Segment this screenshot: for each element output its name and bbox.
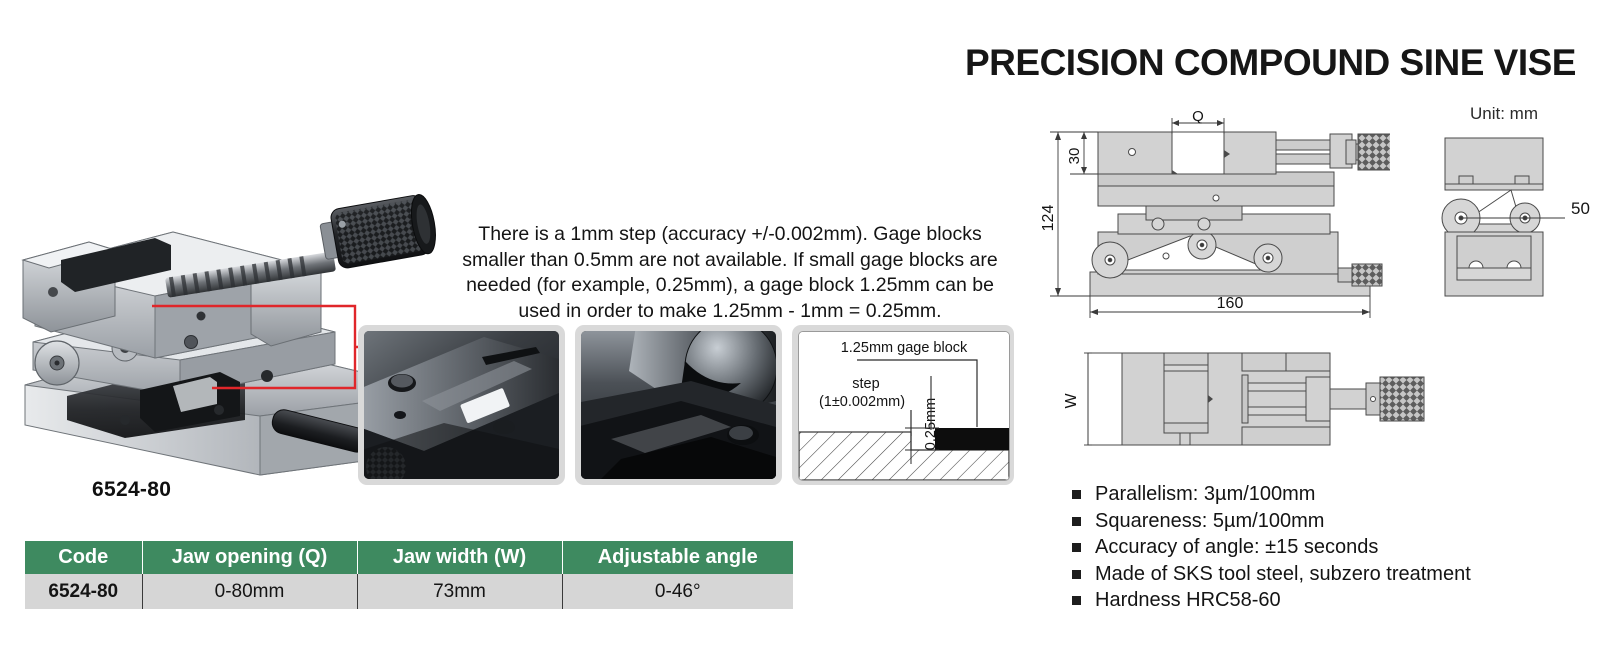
detail-photo-roller-closeup xyxy=(575,325,782,485)
cell-jaw-opening: 0-80mm xyxy=(142,574,357,609)
table-header-jaw-width: Jaw width (W) xyxy=(357,541,562,574)
list-item: Squareness: 5µm/100mm xyxy=(1070,508,1471,535)
gage-step-label-1: step xyxy=(852,376,879,392)
drawing-end-view: 50 xyxy=(1425,128,1600,313)
square-bullet-icon xyxy=(1072,517,1081,526)
gage-top-label: 1.25mm gage block xyxy=(841,340,968,356)
list-item: Accuracy of angle: ±15 seconds xyxy=(1070,534,1471,561)
square-bullet-icon xyxy=(1072,543,1081,552)
cell-adjustable-angle: 0-46° xyxy=(562,574,793,609)
table-row: 6524-80 0-80mm 73mm 0-46° xyxy=(25,574,793,609)
feature-list: Parallelism: 3µm/100mm Squareness: 5µm/1… xyxy=(1070,481,1471,614)
list-item: Hardness HRC58-60 xyxy=(1070,587,1471,614)
catalog-page: PRECISION COMPOUND SINE VISE Unit: mm xyxy=(0,0,1600,658)
square-bullet-icon xyxy=(1072,596,1081,605)
square-bullet-icon xyxy=(1072,490,1081,499)
drawing-side-view: Q 30 124 160 xyxy=(1040,110,1390,330)
gage-block-diagram: 1.25mm gage block step (1±0.002mm) 0.25m… xyxy=(792,325,1014,485)
table-header-row: Code Jaw opening (Q) Jaw width (W) Adjus… xyxy=(25,541,793,574)
dim-50-label: 50 xyxy=(1571,199,1590,218)
detail-photo-step-surface xyxy=(358,325,565,485)
cell-code: 6524-80 xyxy=(25,574,142,609)
page-title: PRECISION COMPOUND SINE VISE xyxy=(965,42,1576,84)
dim-160-label: 160 xyxy=(1217,295,1244,312)
feature-text: Made of SKS tool steel, subzero treatmen… xyxy=(1095,563,1471,585)
dim-w-label: W xyxy=(1063,393,1080,409)
callout-bracket xyxy=(150,288,375,408)
cell-jaw-width: 73mm xyxy=(357,574,562,609)
square-bullet-icon xyxy=(1072,570,1081,579)
list-item: Parallelism: 3µm/100mm xyxy=(1070,481,1471,508)
dim-124-label: 124 xyxy=(1040,205,1057,232)
dim-30-label: 30 xyxy=(1066,148,1083,165)
specification-table: Code Jaw opening (Q) Jaw width (W) Adjus… xyxy=(25,541,793,609)
unit-note: Unit: mm xyxy=(1470,104,1538,124)
product-model-label: 6524-80 xyxy=(92,478,171,502)
feature-text: Squareness: 5µm/100mm xyxy=(1095,510,1324,532)
gage-step-label-2: (1±0.002mm) xyxy=(819,394,905,410)
dim-q-label: Q xyxy=(1192,110,1204,125)
table-header-adjustable-angle: Adjustable angle xyxy=(562,541,793,574)
drawing-plan-view: W xyxy=(1060,345,1440,480)
table-header-code: Code xyxy=(25,541,142,574)
feature-text: Hardness HRC58-60 xyxy=(1095,589,1281,611)
table-header-jaw-opening: Jaw opening (Q) xyxy=(142,541,357,574)
description-text: There is a 1mm step (accuracy +/-0.002mm… xyxy=(455,222,1005,324)
feature-text: Parallelism: 3µm/100mm xyxy=(1095,483,1315,505)
list-item: Made of SKS tool steel, subzero treatmen… xyxy=(1070,561,1471,588)
feature-text: Accuracy of angle: ±15 seconds xyxy=(1095,536,1378,558)
